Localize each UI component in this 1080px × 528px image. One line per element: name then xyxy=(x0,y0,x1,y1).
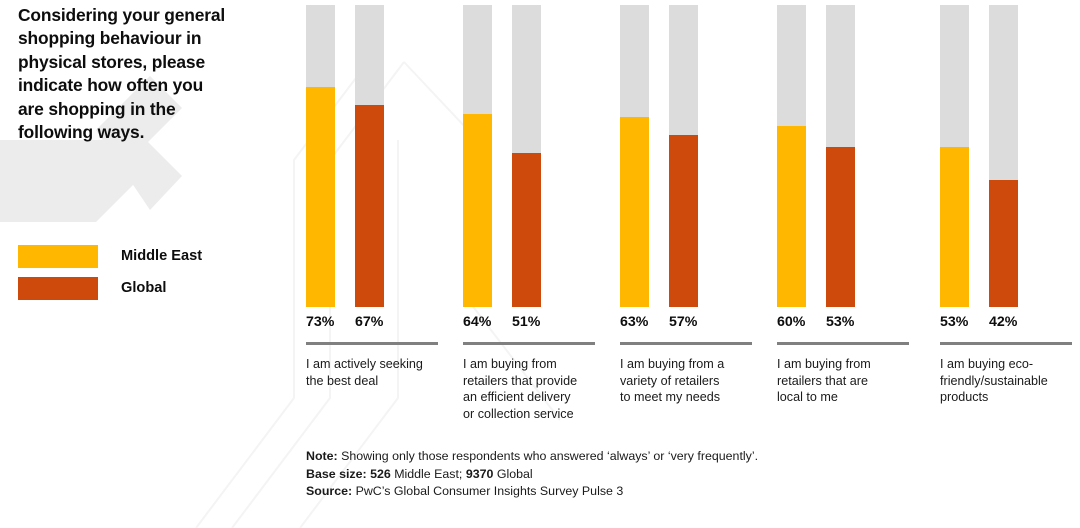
group-divider xyxy=(306,342,438,345)
group-divider xyxy=(940,342,1072,345)
bar-value-labels: 63% 57% xyxy=(620,314,760,334)
footnote-base-me-value: 526 xyxy=(367,467,391,481)
bar-value-labels: 60% 53% xyxy=(777,314,917,334)
bar-track-middle-east[interactable] xyxy=(463,5,492,307)
legend-swatch-global xyxy=(18,277,98,300)
bar-fill-middle-east xyxy=(620,117,649,307)
footnote-source: Source: PwC’s Global Consumer Insights S… xyxy=(306,483,1006,501)
bar-chart: 73% 67% I am actively seeking the best d… xyxy=(296,0,1080,430)
bar-group-category-label: I am buying from retailers that provide … xyxy=(463,356,595,423)
bar-group-category-label: I am buying eco- friendly/sustainable pr… xyxy=(940,356,1072,406)
bar-group-category-label: I am buying from a variety of retailers … xyxy=(620,356,752,406)
legend-item-middle-east[interactable]: Middle East xyxy=(18,243,202,269)
footnote-note-text: Showing only those respondents who answe… xyxy=(338,449,758,463)
group-divider xyxy=(777,342,909,345)
bar-track-middle-east[interactable] xyxy=(306,5,335,307)
legend-item-global[interactable]: Global xyxy=(18,275,202,301)
bar-value-labels: 73% 67% xyxy=(306,314,446,334)
bar-pair xyxy=(940,5,1072,307)
bar-pair xyxy=(463,5,595,307)
footnote-note-label: Note: xyxy=(306,449,338,463)
bar-value-middle-east: 60% xyxy=(777,314,805,330)
bar-group: 53% 42% I am buying eco- friendly/sustai… xyxy=(930,0,1072,430)
bar-fill-middle-east xyxy=(306,87,335,307)
bar-track-middle-east[interactable] xyxy=(777,5,806,307)
bar-track-global[interactable] xyxy=(989,5,1018,307)
chart-footnotes: Note: Showing only those respondents who… xyxy=(306,448,1006,501)
bar-fill-middle-east xyxy=(940,147,969,307)
chart-legend: Middle East Global xyxy=(18,243,202,307)
bar-fill-global xyxy=(669,135,698,307)
legend-label-global: Global xyxy=(121,280,166,296)
bar-value-labels: 64% 51% xyxy=(463,314,603,334)
bar-pair xyxy=(306,5,438,307)
bar-pair xyxy=(620,5,752,307)
bar-track-global[interactable] xyxy=(669,5,698,307)
bar-value-global: 42% xyxy=(989,314,1017,330)
footnote-source-text: PwC’s Global Consumer Insights Survey Pu… xyxy=(352,484,623,498)
bar-value-global: 51% xyxy=(512,314,540,330)
bar-value-middle-east: 64% xyxy=(463,314,491,330)
bar-group-category-label: I am actively seeking the best deal xyxy=(306,356,438,389)
bar-group-category-label: I am buying from retailers that are loca… xyxy=(777,356,909,406)
bar-fill-middle-east xyxy=(777,126,806,307)
footnote-note: Note: Showing only those respondents who… xyxy=(306,448,1006,466)
footnote-base-me-text: Middle East; xyxy=(391,467,466,481)
bar-track-global[interactable] xyxy=(826,5,855,307)
bar-fill-global xyxy=(989,180,1018,307)
bar-value-middle-east: 63% xyxy=(620,314,648,330)
bar-value-middle-east: 53% xyxy=(940,314,968,330)
footnote-source-label: Source: xyxy=(306,484,352,498)
bar-group: 63% 57% I am buying from a variety of re… xyxy=(610,0,752,430)
group-divider xyxy=(463,342,595,345)
bar-group: 73% 67% I am actively seeking the best d… xyxy=(296,0,438,430)
legend-swatch-middle-east xyxy=(18,245,98,268)
legend-label-middle-east: Middle East xyxy=(121,248,202,264)
bar-value-middle-east: 73% xyxy=(306,314,334,330)
group-divider xyxy=(620,342,752,345)
bar-fill-global xyxy=(355,105,384,307)
bar-track-middle-east[interactable] xyxy=(940,5,969,307)
bar-fill-global xyxy=(826,147,855,307)
bar-track-global[interactable] xyxy=(512,5,541,307)
bar-value-global: 53% xyxy=(826,314,854,330)
bar-group: 60% 53% I am buying from retailers that … xyxy=(767,0,909,430)
bar-value-labels: 53% 42% xyxy=(940,314,1080,334)
footnote-base-size: Base size: 526 Middle East; 9370 Global xyxy=(306,466,1006,484)
bar-fill-global xyxy=(512,153,541,307)
title-panel: Considering your general shopping behavi… xyxy=(18,4,280,144)
bar-track-middle-east[interactable] xyxy=(620,5,649,307)
footnote-base-label: Base size: xyxy=(306,467,367,481)
footnote-base-global-text: Global xyxy=(493,467,532,481)
bar-group: 64% 51% I am buying from retailers that … xyxy=(453,0,595,430)
page-title: Considering your general shopping behavi… xyxy=(18,4,280,144)
bar-fill-middle-east xyxy=(463,114,492,307)
bar-pair xyxy=(777,5,909,307)
bar-track-global[interactable] xyxy=(355,5,384,307)
bar-value-global: 57% xyxy=(669,314,697,330)
footnote-base-global-value: 9370 xyxy=(466,467,494,481)
bar-value-global: 67% xyxy=(355,314,383,330)
